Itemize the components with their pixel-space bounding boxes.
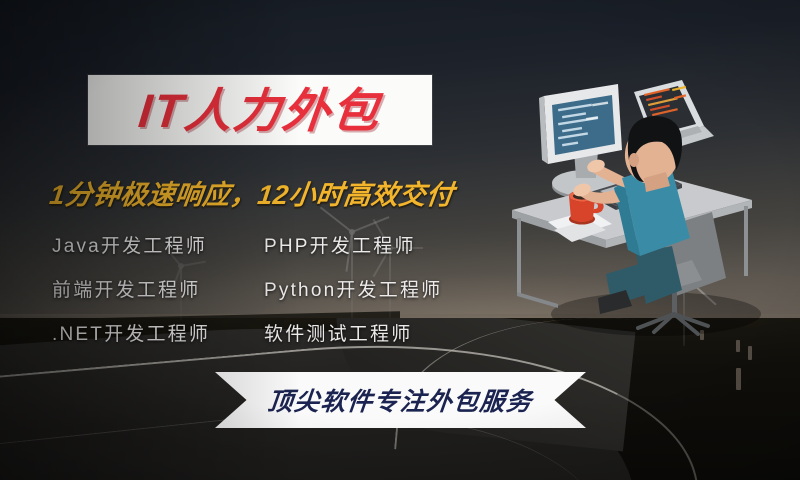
role-item: PHP开发工程师 — [264, 231, 502, 258]
role-item: 软件测试工程师 — [264, 319, 502, 346]
monitor-icon — [539, 84, 622, 199]
role-row: .NET开发工程师 软件测试工程师 — [52, 310, 502, 354]
role-item: Python开发工程师 — [264, 275, 502, 302]
role-row: Java开发工程师 PHP开发工程师 — [52, 222, 502, 266]
guard-post — [736, 368, 741, 390]
role-item: Java开发工程师 — [52, 231, 264, 258]
page-title: IT人力外包 — [137, 87, 384, 134]
poster-canvas: IT人力外包 1分钟极速响应，12小时高效交付 Java开发工程师 PHP开发工… — [0, 0, 800, 480]
role-item: .NET开发工程师 — [52, 319, 264, 346]
guard-post — [736, 340, 740, 352]
role-list: Java开发工程师 PHP开发工程师 前端开发工程师 Python开发工程师 .… — [52, 222, 502, 354]
role-item: 前端开发工程师 — [52, 275, 264, 302]
subtitle: 1分钟极速响应，12小时高效交付 — [48, 173, 457, 212]
guard-post — [748, 346, 752, 360]
ribbon-banner: 顶尖软件专注外包服务 — [215, 372, 586, 428]
ribbon-label: 顶尖软件专注外包服务 — [212, 372, 589, 428]
title-banner: IT人力外包 — [88, 75, 432, 145]
role-row: 前端开发工程师 Python开发工程师 — [52, 266, 502, 310]
developer-illustration — [486, 78, 800, 336]
